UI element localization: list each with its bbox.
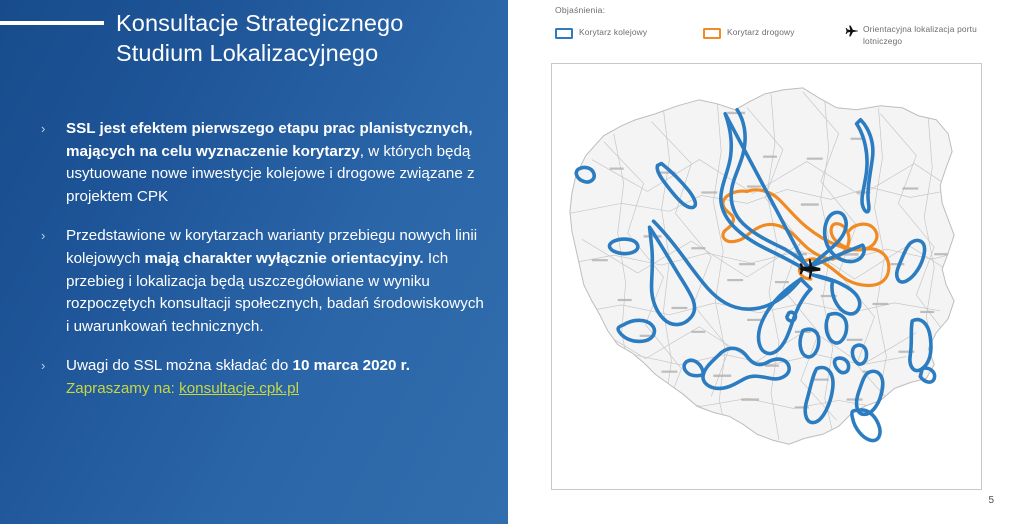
link-prefix: Zapraszamy na: — [66, 380, 179, 397]
legend-item-rail-label: Korytarz kolejowy — [579, 27, 647, 39]
list-item: › Przedstawione w korytarzach warianty p… — [36, 225, 484, 338]
list-item-text: Uwagi do SSL można składać do 10 marca 2… — [66, 355, 484, 400]
poland-map[interactable] — [551, 63, 982, 490]
list-item-text: SSL jest efektem pierwszego etapu prac p… — [66, 118, 484, 208]
legend-item-road: Korytarz drogowy — [703, 27, 795, 39]
list-item: › Uwagi do SSL można składać do 10 marca… — [36, 355, 484, 400]
chevron-right-icon: › — [36, 118, 66, 208]
content-panel: Konsultacje Strategicznego Studium Lokal… — [0, 0, 508, 524]
chevron-right-icon: › — [36, 225, 66, 338]
consultations-link-text: konsultacje.cpk.pl — [179, 380, 299, 397]
map-legend: Objaśnienia: Korytarz kolejowy Korytarz … — [555, 4, 995, 16]
legend-item-rail: Korytarz kolejowy — [555, 27, 647, 39]
bullet-list: › SSL jest efektem pierwszego etapu prac… — [36, 118, 484, 418]
legend-item-airport-label: Orientacyjna lokalizacja portu lotniczeg… — [863, 24, 991, 47]
legend-item-road-label: Korytarz drogowy — [727, 27, 795, 39]
map-panel: Objaśnienia: Korytarz kolejowy Korytarz … — [508, 0, 1012, 524]
list-item-text-bold: mają charakter wyłącznie orientacyjny. — [145, 250, 424, 267]
page-title-line-1: Konsultacje Strategicznego — [116, 8, 496, 38]
title-rule — [0, 21, 104, 25]
page-title: Konsultacje Strategicznego Studium Lokal… — [116, 8, 496, 68]
rail-corridor-swatch — [555, 28, 573, 39]
list-item-text-plain: Uwagi do SSL można składać do — [66, 357, 293, 374]
list-item: › SSL jest efektem pierwszego etapu prac… — [36, 118, 484, 208]
list-item-text-bold: 10 marca 2020 r. — [293, 357, 410, 374]
chevron-right-icon: › — [36, 355, 66, 400]
page-title-line-2: Studium Lokalizacyjnego — [116, 38, 496, 68]
slide: Konsultacje Strategicznego Studium Lokal… — [0, 0, 1012, 524]
legend-title: Objaśnienia: — [555, 4, 995, 16]
legend-items: Korytarz kolejowy Korytarz drogowy Orien… — [555, 24, 995, 58]
road-corridor-swatch — [703, 28, 721, 39]
list-item-text: Przedstawione w korytarzach warianty prz… — [66, 225, 484, 338]
page-number: 5 — [988, 495, 994, 507]
airplane-icon — [845, 24, 859, 38]
consultations-link[interactable]: konsultacje.cpk.pl — [179, 380, 299, 397]
legend-item-airport-label-line-1: Orientacyjna lokalizacja — [863, 24, 955, 34]
legend-item-airport: Orientacyjna lokalizacja portu lotniczeg… — [845, 24, 991, 47]
